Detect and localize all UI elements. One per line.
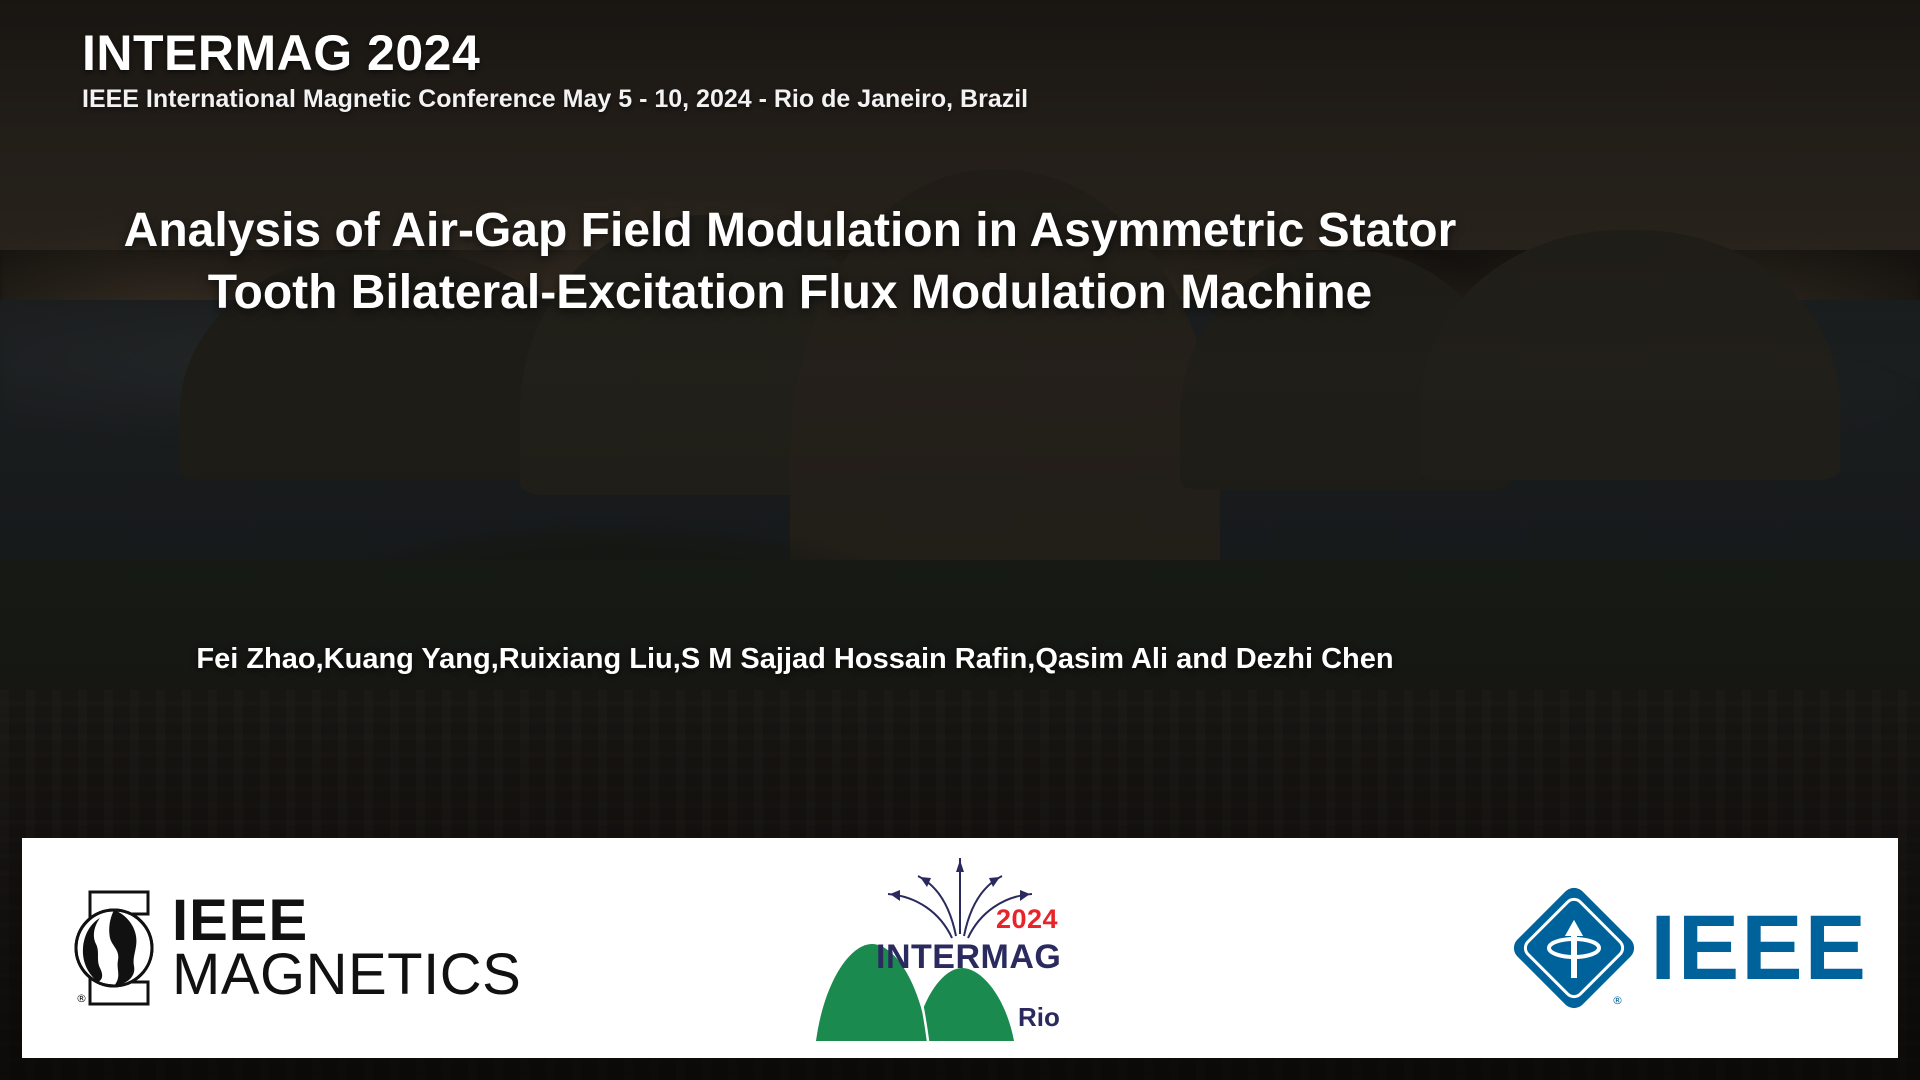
presentation-slide: INTERMAG 2024 IEEE International Magneti… (0, 0, 1920, 1080)
svg-text:®: ® (76, 992, 87, 1005)
ieee-logo-slot: ® IEEE (1278, 838, 1898, 1058)
sponsor-logo-bar: ® IEEE MAGNETICS (22, 838, 1898, 1058)
ieee-diamond-icon: ® (1512, 886, 1636, 1010)
intermag-logo-slot: 2024 INTERMAG Rio (642, 838, 1278, 1058)
ieee-logo: ® IEEE (1512, 886, 1868, 1010)
intermag-logo-name: INTERMAG (876, 938, 1061, 977)
ieee-magnetics-wordmark: IEEE MAGNETICS (172, 894, 521, 1002)
conference-header: INTERMAG 2024 IEEE International Magneti… (82, 26, 1028, 114)
intermag-logo-year: 2024 (996, 904, 1058, 935)
conference-subtitle: IEEE International Magnetic Conference M… (82, 85, 1028, 114)
ieee-magnetics-logo-slot: ® IEEE MAGNETICS (22, 838, 642, 1058)
ieee-magnetics-line2: MAGNETICS (172, 948, 521, 1002)
ieee-wordmark: IEEE (1650, 902, 1868, 994)
author-list: Fei Zhao,Kuang Yang,Ruixiang Liu,S M Saj… (60, 643, 1530, 676)
intermag-rio-logo: 2024 INTERMAG Rio (810, 856, 1110, 1041)
ieee-magnetics-logo: ® IEEE MAGNETICS (62, 884, 521, 1012)
intermag-logo-city: Rio (1018, 1002, 1060, 1033)
ieee-magnetics-globe-icon: ® (62, 884, 166, 1012)
svg-text:®: ® (1612, 994, 1623, 1007)
paper-title: Analysis of Air-Gap Field Modulation in … (90, 200, 1490, 325)
conference-name: INTERMAG 2024 (82, 26, 1028, 80)
ieee-magnetics-line1: IEEE (172, 894, 521, 948)
